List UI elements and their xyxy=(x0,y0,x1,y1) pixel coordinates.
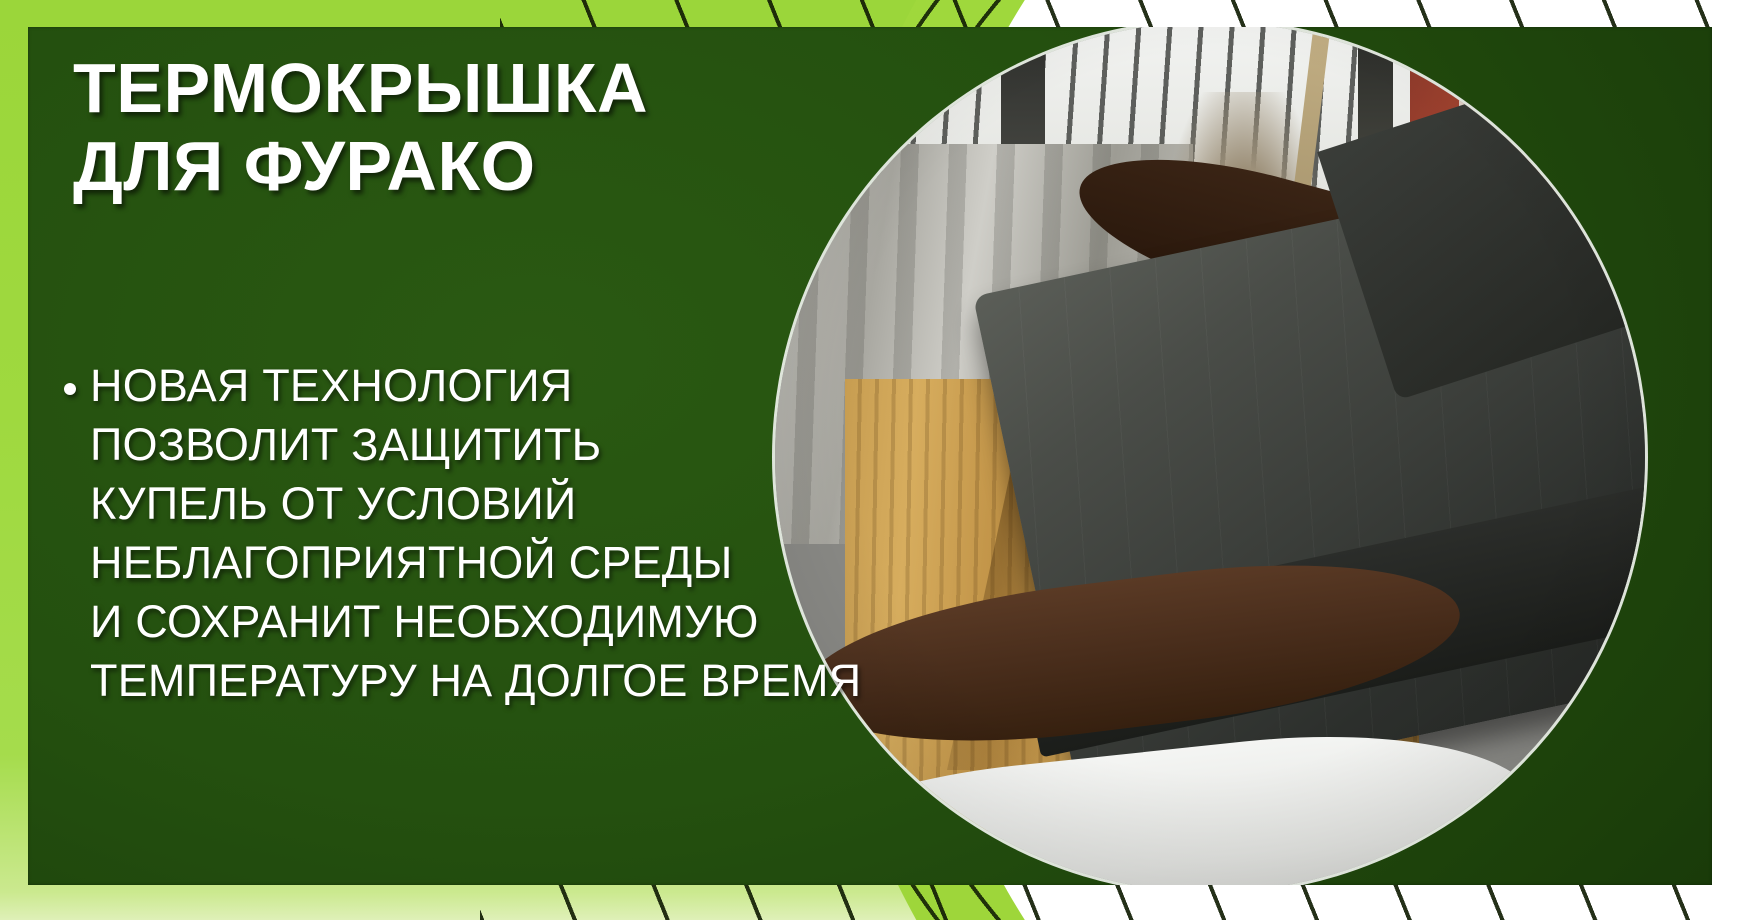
promo-banner: ТЕРМОКРЫШКА ДЛЯ ФУРАКО НОВАЯ ТЕХНОЛОГИЯ … xyxy=(0,0,1740,920)
page-title: ТЕРМОКРЫШКА ДЛЯ ФУРАКО xyxy=(73,49,833,206)
content-panel: ТЕРМОКРЫШКА ДЛЯ ФУРАКО НОВАЯ ТЕХНОЛОГИЯ … xyxy=(28,27,1712,885)
bullet-dot-icon xyxy=(64,383,76,395)
bullet-line-3: КУПЕЛЬ ОТ УСЛОВИЙ xyxy=(90,475,861,534)
list-item: НОВАЯ ТЕХНОЛОГИЯ ПОЗВОЛИТ ЗАЩИТИТЬ КУПЕЛ… xyxy=(64,357,944,711)
title-line-2: ДЛЯ ФУРАКО xyxy=(73,127,833,205)
bullet-line-4: НЕБЛАГОПРИЯТНОЙ СРЕДЫ xyxy=(90,534,861,593)
bullet-line-1: НОВАЯ ТЕХНОЛОГИЯ xyxy=(90,357,861,416)
bullet-line-6: ТЕМПЕРАТУРУ НА ДОЛГОЕ ВРЕМЯ xyxy=(90,652,861,711)
bullet-line-5: И СОХРАНИТ НЕОБХОДИМУЮ xyxy=(90,593,861,652)
bullet-line-2: ПОЗВОЛИТ ЗАЩИТИТЬ xyxy=(90,416,861,475)
top-diagonal-stripes xyxy=(500,0,1740,28)
title-line-1: ТЕРМОКРЫШКА xyxy=(73,49,833,127)
benefits-list: НОВАЯ ТЕХНОЛОГИЯ ПОЗВОЛИТ ЗАЩИТИТЬ КУПЕЛ… xyxy=(64,357,944,711)
list-item-text: НОВАЯ ТЕХНОЛОГИЯ ПОЗВОЛИТ ЗАЩИТИТЬ КУПЕЛ… xyxy=(90,357,861,711)
bottom-diagonal-stripes xyxy=(480,884,1740,920)
